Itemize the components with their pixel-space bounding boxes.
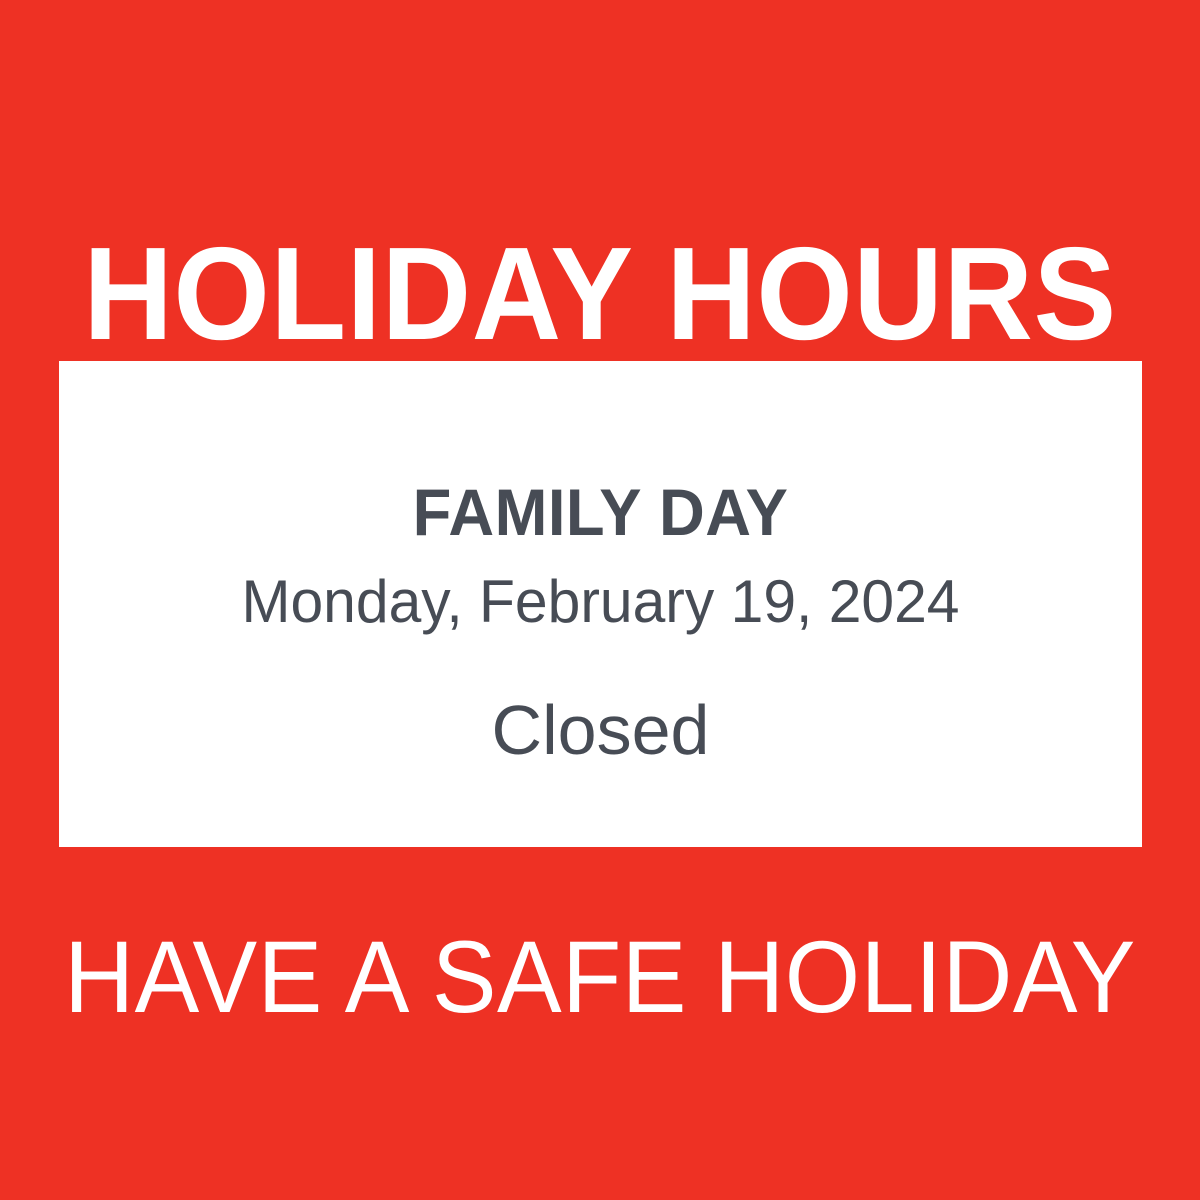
page-title: HOLIDAY HOURS xyxy=(36,88,1164,378)
holiday-name: FAMILY DAY xyxy=(81,479,1121,545)
holiday-info-card: FAMILY DAY Monday, February 19, 2024 Clo… xyxy=(59,361,1142,847)
footer-message: HAVE A SAFE HOLIDAY xyxy=(30,900,1170,1040)
holiday-hours-poster: HOLIDAY HOURS FAMILY DAY Monday, Februar… xyxy=(0,0,1200,1200)
status-badge: Closed xyxy=(59,695,1142,765)
holiday-date: Monday, February 19, 2024 xyxy=(70,572,1131,632)
